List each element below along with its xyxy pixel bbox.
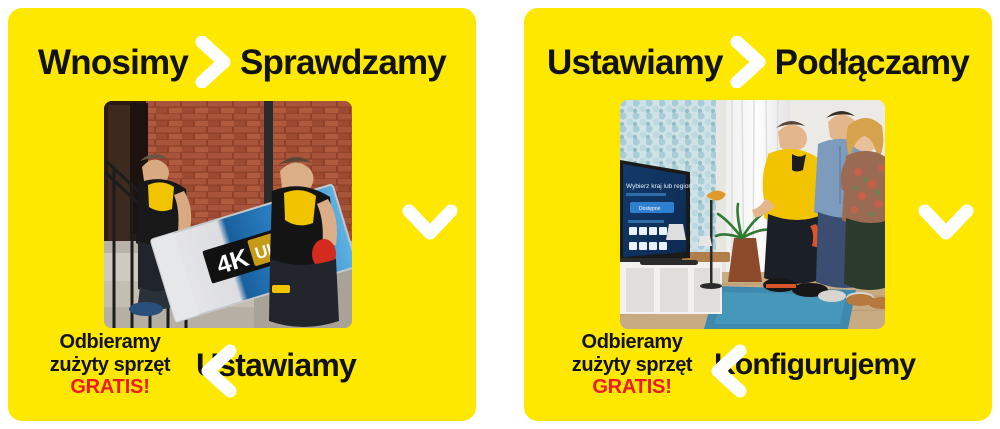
chevron-down-icon: [402, 203, 458, 243]
step-label-podlaczamy: Podłączamy: [775, 45, 969, 80]
chevron-left-wrapper-2: [707, 344, 749, 398]
service-steps-banner: Wnosimy Sprawdzamy: [0, 0, 1000, 429]
photo-delivery-illustration: 4K ULTRA: [104, 101, 352, 328]
photo-delivery-carrying-tv: 4K ULTRA: [104, 101, 352, 328]
photo-setup-living-room: Wybierz kraj lub region Dostępne: [620, 100, 885, 329]
chevron-down-icon: [918, 203, 974, 243]
svg-text:Wybierz kraj lub region: Wybierz kraj lub region: [626, 183, 692, 190]
pickup-line-2: zużyty sprzęt: [30, 354, 190, 376]
chevron-left-icon: [707, 344, 749, 398]
chevron-left-wrapper-1: [197, 344, 239, 398]
chevron-down-wrapper-2: [918, 203, 974, 243]
service-panel-delivery: Wnosimy Sprawdzamy: [8, 8, 476, 421]
pickup-line-2: zużyty sprzęt: [552, 354, 712, 376]
chevron-right-icon: [194, 36, 234, 88]
pickup-line-1: Odbieramy: [552, 331, 712, 353]
panel-1-footer: Odbieramy zużyty sprzęt GRATIS! Ustawiam…: [8, 323, 476, 407]
svg-text:Dostępne: Dostępne: [639, 206, 661, 212]
panel-2-footer: Odbieramy zużyty sprzęt GRATIS! Konfigur…: [524, 323, 992, 407]
chevron-left-icon: [197, 344, 239, 398]
pickup-note-2: Odbieramy zużyty sprzęt GRATIS!: [552, 331, 712, 398]
step-label-wnosimy: Wnosimy: [38, 45, 188, 80]
photo-setup-illustration: Wybierz kraj lub region Dostępne: [620, 100, 885, 329]
panel-2-header: Ustawiamy Podłączamy: [524, 34, 992, 90]
panel-1-header: Wnosimy Sprawdzamy: [8, 34, 476, 90]
service-panel-setup: Ustawiamy Podłączamy: [524, 8, 992, 421]
step-label-sprawdzamy: Sprawdzamy: [240, 45, 446, 80]
pickup-note-1: Odbieramy zużyty sprzęt GRATIS!: [30, 331, 190, 398]
pickup-line-1: Odbieramy: [30, 331, 190, 353]
step-label-ustawiamy-2: Ustawiamy: [547, 45, 723, 80]
chevron-down-wrapper-1: [402, 203, 458, 243]
pickup-free-badge: GRATIS!: [30, 376, 190, 398]
chevron-right-icon: [729, 36, 769, 88]
pickup-free-badge: GRATIS!: [552, 376, 712, 398]
